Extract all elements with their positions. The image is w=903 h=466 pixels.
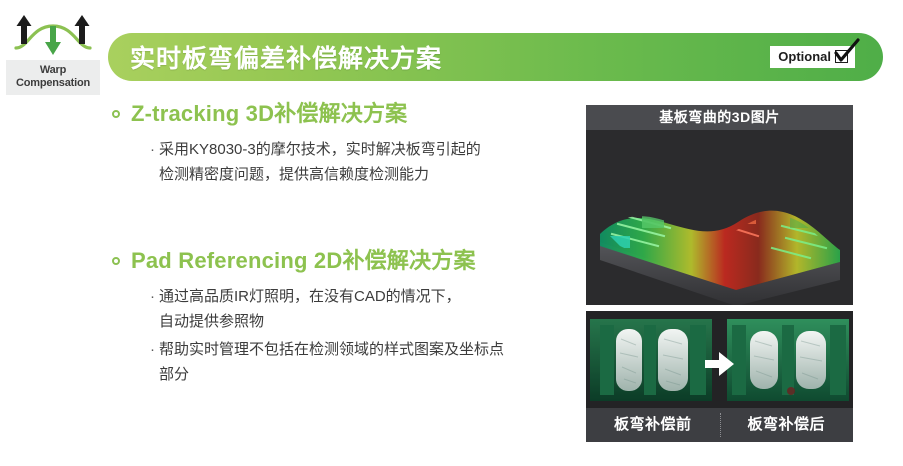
section-heading: Z-tracking 3D补偿解决方案 <box>112 96 572 128</box>
checkmark-icon <box>834 40 860 66</box>
bullet-text: 采用KY8030-3的摩尔技术，实时解决板弯引起的 检测精密度问题，提供高信赖度… <box>159 137 481 187</box>
section-z-tracking: Z-tracking 3D补偿解决方案 · 采用KY8030-3的摩尔技术，实时… <box>112 96 572 187</box>
warp-compensation-label: Warp Compensation <box>6 60 100 95</box>
media-column: 基板弯曲的3D图片 <box>586 105 853 442</box>
list-item: · 通过高品质IR灯照明，在没有CAD的情况下， 自动提供参照物 <box>150 284 572 334</box>
warp-compensation-icon <box>10 10 96 58</box>
warp-label-line2: Compensation <box>8 77 98 90</box>
section-title-pad-referencing: Pad Referencing 2D补偿解决方案 <box>131 243 476 275</box>
warp-compensation-badge: Warp Compensation <box>6 10 100 95</box>
section-title-z-tracking: Z-tracking 3D补偿解决方案 <box>131 96 407 128</box>
bullet-dot-icon: · <box>150 284 155 309</box>
optional-badge[interactable]: Optional <box>770 46 855 68</box>
bullet-dot-icon: · <box>150 137 155 162</box>
bullet-text: 通过高品质IR灯照明，在没有CAD的情况下， 自动提供参照物 <box>159 284 461 334</box>
solder-paste-illustration <box>586 311 853 408</box>
bullet-list-z-tracking: · 采用KY8030-3的摩尔技术，实时解决板弯引起的 检测精密度问题，提供高信… <box>150 137 572 187</box>
bullet-dot-icon: · <box>150 337 155 362</box>
optional-label: Optional <box>778 46 831 68</box>
list-item: · 帮助实时管理不包括在检测领域的样式图案及坐标点 部分 <box>150 337 572 387</box>
title-banner: 实时板弯偏差补偿解决方案 Optional <box>108 33 883 81</box>
content-column: Z-tracking 3D补偿解决方案 · 采用KY8030-3的摩尔技术，实时… <box>112 96 572 397</box>
bullet-list-pad-referencing: · 通过高品质IR灯照明，在没有CAD的情况下， 自动提供参照物 · 帮助实时管… <box>150 284 572 387</box>
caption-after: 板弯补偿后 <box>720 408 854 442</box>
ring-bullet-icon <box>112 257 120 265</box>
solder-paste-3d-comparison <box>586 311 853 408</box>
section-pad-referencing: Pad Referencing 2D补偿解决方案 · 通过高品质IR灯照明，在没… <box>112 243 572 387</box>
ring-bullet-icon <box>112 110 120 118</box>
comparison-captions: 板弯补偿前 板弯补偿后 <box>586 408 853 442</box>
warped-pcb-3d-heightmap <box>586 130 853 305</box>
bullet-text: 帮助实时管理不包括在检测领域的样式图案及坐标点 部分 <box>159 337 504 387</box>
media-header-title: 基板弯曲的3D图片 <box>586 105 853 130</box>
section-heading: Pad Referencing 2D补偿解决方案 <box>112 243 572 275</box>
caption-before: 板弯补偿前 <box>586 408 720 442</box>
page-title: 实时板弯偏差补偿解决方案 <box>130 39 442 75</box>
warp-label-line1: Warp <box>8 64 98 77</box>
list-item: · 采用KY8030-3的摩尔技术，实时解决板弯引起的 检测精密度问题，提供高信… <box>150 137 572 187</box>
warped-pcb-illustration <box>586 130 853 305</box>
optional-checkbox[interactable] <box>835 50 850 65</box>
